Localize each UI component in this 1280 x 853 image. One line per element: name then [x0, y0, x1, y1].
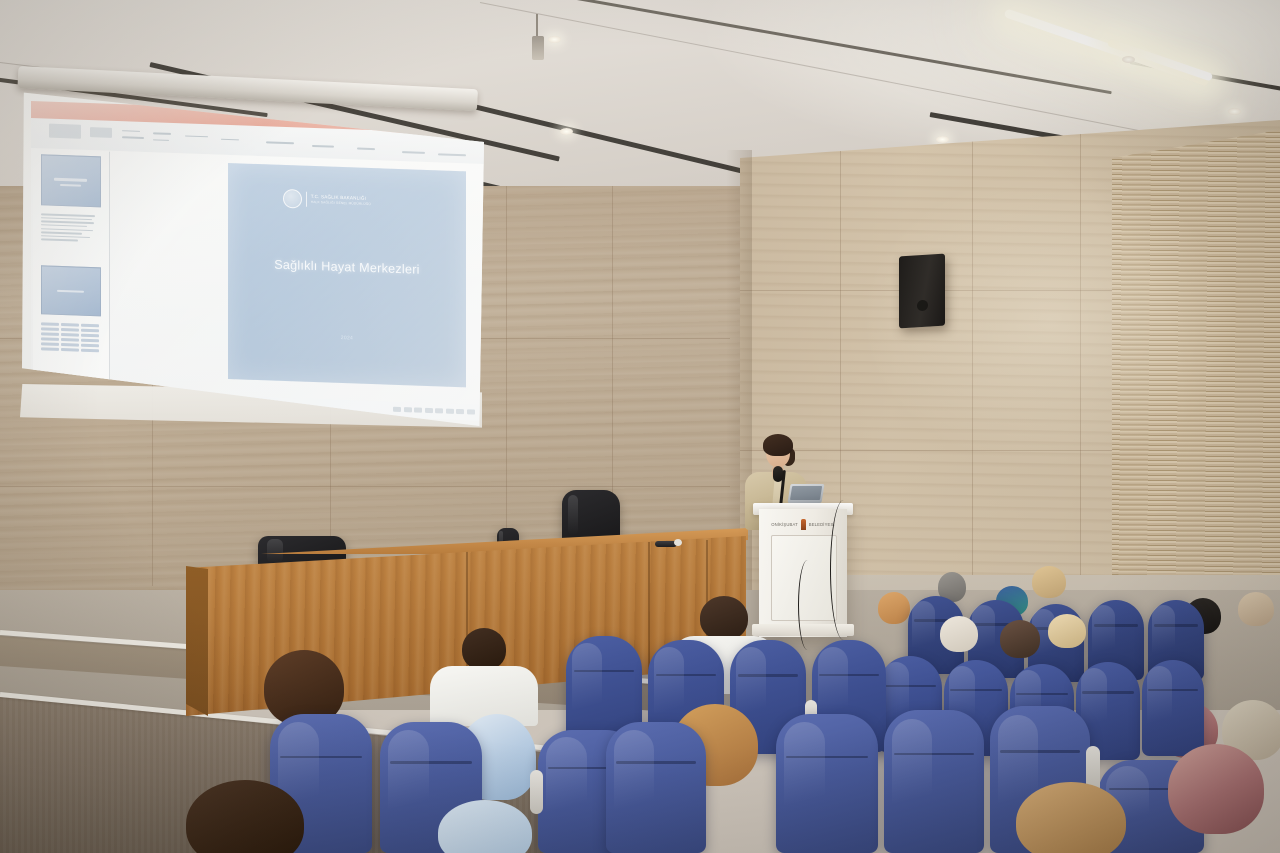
desk-end-panel — [186, 566, 208, 716]
downlight-icon — [1228, 108, 1241, 115]
audience-head-foreground — [1016, 782, 1126, 853]
presenter-hair — [763, 434, 793, 456]
audience-seat-front — [776, 714, 878, 853]
audience-head-foreground-scarf — [1168, 744, 1264, 834]
audience-head — [700, 596, 748, 640]
podium-laptop — [787, 484, 824, 503]
podium-sign-right: BELEDİYESİ — [809, 522, 835, 527]
municipality-emblem-icon — [801, 519, 806, 530]
current-slide: T.C. SAĞLIK BAKANLIĞI HALK SAĞLIĞI GENEL… — [228, 163, 466, 387]
slide-title: Sağlıklı Hayat Merkezleri — [228, 256, 466, 278]
speaker-cone-icon — [917, 299, 928, 311]
audience-head — [1048, 614, 1086, 648]
podium-sign-left: ONİKİŞUBAT — [771, 522, 798, 527]
audience-seat-front — [606, 722, 706, 853]
podium-cable — [830, 500, 857, 640]
slide-thumbnail-text[interactable] — [41, 214, 99, 245]
logo-divider — [305, 192, 306, 207]
audience-seat-front — [884, 710, 984, 853]
audience-head — [878, 592, 910, 624]
downlight-icon — [1122, 56, 1135, 63]
downlight-icon — [560, 128, 573, 135]
conference-hall-photo: T.C. SAĞLIK BAKANLIĞI HALK SAĞLIĞI GENEL… — [0, 0, 1280, 853]
ceiling-fixture — [532, 36, 544, 60]
logo-secondary-text: HALK SAĞLIĞI GENEL MÜDÜRLÜĞÜ — [310, 200, 370, 206]
audience-head-hijab — [940, 616, 978, 652]
crest-icon — [282, 189, 301, 209]
slide-thumbnail[interactable] — [41, 266, 101, 317]
audience-seat — [1142, 660, 1204, 756]
wall-speaker — [899, 254, 945, 329]
slide-thumbnail-pane[interactable] — [33, 149, 110, 399]
podium-cable — [798, 560, 817, 650]
seat-armrest — [530, 770, 543, 814]
desk-microphone-tip — [674, 539, 682, 546]
slide-thumbnail[interactable] — [41, 155, 101, 209]
microphone-icon — [773, 466, 783, 482]
ministry-logo: T.C. SAĞLIK BAKANLIĞI HALK SAĞLIĞI GENEL… — [282, 189, 370, 211]
audience-head — [1238, 592, 1274, 626]
audience-head — [1032, 566, 1066, 598]
slide-thumbnail-table[interactable] — [41, 323, 99, 355]
wall-panel-seam — [0, 486, 730, 487]
audience-head — [462, 628, 506, 670]
downlight-icon — [548, 36, 561, 43]
slide-footer: 2024 — [228, 332, 466, 346]
downlight-icon — [936, 136, 949, 143]
audience-head — [1000, 620, 1040, 658]
